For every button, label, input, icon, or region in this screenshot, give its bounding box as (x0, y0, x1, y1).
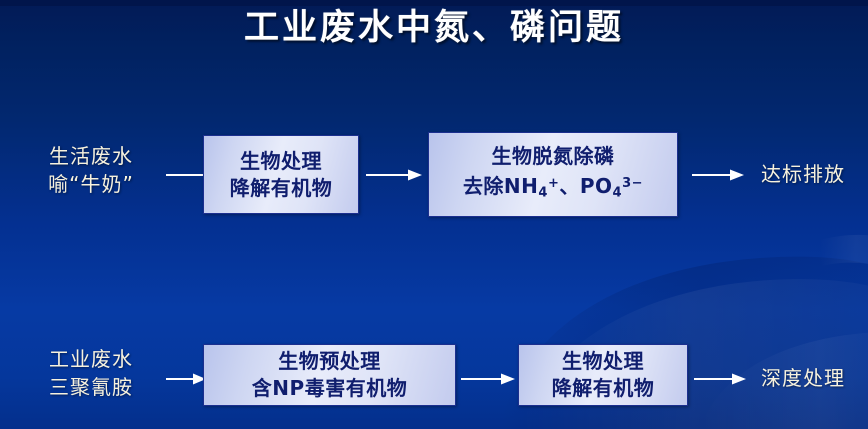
slide-title-container: 工业废水中氮、磷问题 (0, 6, 868, 50)
row1-output-label: 达标排放 (748, 160, 858, 188)
arrow-right-icon-4 (166, 372, 206, 386)
row1-box2-line2: 去除NH4+、PO43− (463, 170, 643, 206)
arrow-right-icon-2 (366, 168, 422, 182)
row1-output-label-text: 达标排放 (748, 160, 858, 188)
formula-sub-2: 4 (613, 185, 623, 200)
formula-mid: 、PO (559, 174, 612, 198)
formula-sub-1: 4 (538, 185, 548, 200)
row2-output-label: 深度处理 (748, 364, 858, 392)
arrow-right-icon-5 (461, 372, 515, 386)
row1-box1-line2: 降解有机物 (230, 175, 333, 202)
row2-box1-line2: 含NP毒害有机物 (252, 375, 407, 402)
arrow-right-icon-6 (694, 372, 746, 386)
formula-sup-2: 3− (622, 176, 643, 191)
row1-box2-line1: 生物脱氮除磷 (492, 143, 615, 170)
row2-box-biological-treatment[interactable]: 生物处理 降解有机物 (518, 344, 688, 406)
row1-input-label-line2: 喻“牛奶” (16, 170, 166, 198)
formula-prefix: 去除NH (463, 174, 538, 198)
row2-input-label-line2: 三聚氰胺 (16, 373, 166, 401)
row1-box1-line1: 生物处理 (240, 148, 322, 175)
row2-box-biological-pretreatment[interactable]: 生物预处理 含NP毒害有机物 (203, 344, 456, 406)
row2-input-label-line1: 工业废水 (16, 345, 166, 373)
row2-input-label: 工业废水 三聚氰胺 (16, 345, 166, 401)
row2-box1-line1: 生物预处理 (278, 348, 381, 375)
row1-box-biological-treatment[interactable]: 生物处理 降解有机物 (203, 135, 359, 214)
row2-box2-line2: 降解有机物 (552, 375, 655, 402)
formula-sup-1: + (548, 176, 559, 191)
row1-input-label-line1: 生活废水 (16, 142, 166, 170)
row1-box-nutrient-removal[interactable]: 生物脱氮除磷 去除NH4+、PO43− (428, 132, 678, 217)
slide-canvas: 工业废水中氮、磷问题 生活废水 喻“牛奶” 生物处理 降解有机物 生物脱氮除磷 … (0, 0, 868, 429)
row2-output-label-text: 深度处理 (748, 364, 858, 392)
row1-input-label: 生活废水 喻“牛奶” (16, 142, 166, 198)
page-title: 工业废水中氮、磷问题 (244, 6, 624, 50)
row2-box2-line1: 生物处理 (562, 348, 644, 375)
arrow-right-icon-3 (692, 168, 744, 182)
